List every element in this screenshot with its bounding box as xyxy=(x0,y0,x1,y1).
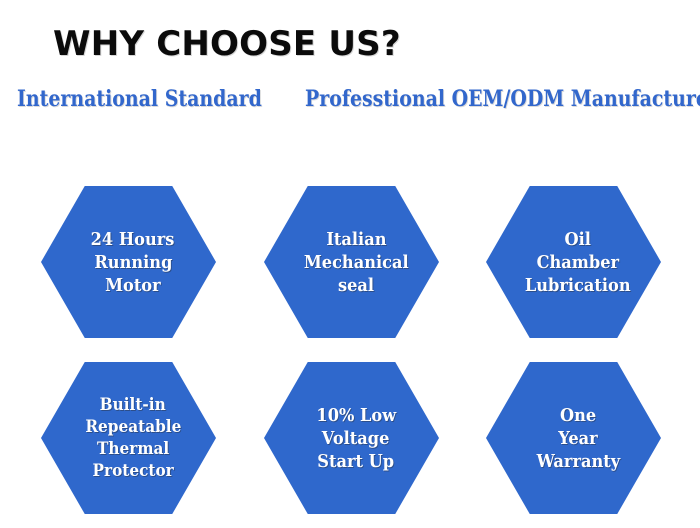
why-choose-us-slide: WHY CHOOSE US? International Standard Pr… xyxy=(0,0,700,528)
feature-hexagon-oil-chamber-lubrication[interactable]: Oil Chamber Lubrication xyxy=(486,186,661,338)
hexagon-shape-icon xyxy=(264,362,439,514)
section-heading-oem-odm-manufacturer: Professtional OEM/ODM Manufacturer xyxy=(305,86,700,112)
feature-hexagon-built-in-repeatable-thermal-protector[interactable]: Built-in Repeatable Thermal Protector xyxy=(41,362,216,514)
feature-hexagon-italian-mechanical-seal[interactable]: Italian Mechanical seal xyxy=(264,186,439,338)
feature-hexagon-one-year-warranty[interactable]: One Year Warranty xyxy=(486,362,661,514)
feature-hexagon-10-percent-low-voltage-start-up[interactable]: 10% Low Voltage Start Up xyxy=(264,362,439,514)
page-title: WHY CHOOSE US? xyxy=(53,25,401,63)
section-heading-international-standard: International Standard xyxy=(17,86,262,112)
hexagon-shape-icon xyxy=(41,186,216,338)
feature-row-top: 24 Hours Running Motor Italian Mechanica… xyxy=(0,186,700,338)
feature-hexagon-24-hours-running-motor[interactable]: 24 Hours Running Motor xyxy=(41,186,216,338)
feature-hexagon-grid: 24 Hours Running Motor Italian Mechanica… xyxy=(0,172,700,528)
hexagon-shape-icon xyxy=(486,362,661,514)
hexagon-shape-icon xyxy=(41,362,216,514)
hexagon-shape-icon xyxy=(486,186,661,338)
feature-row-bottom: Built-in Repeatable Thermal Protector 10… xyxy=(0,362,700,514)
hexagon-shape-icon xyxy=(264,186,439,338)
